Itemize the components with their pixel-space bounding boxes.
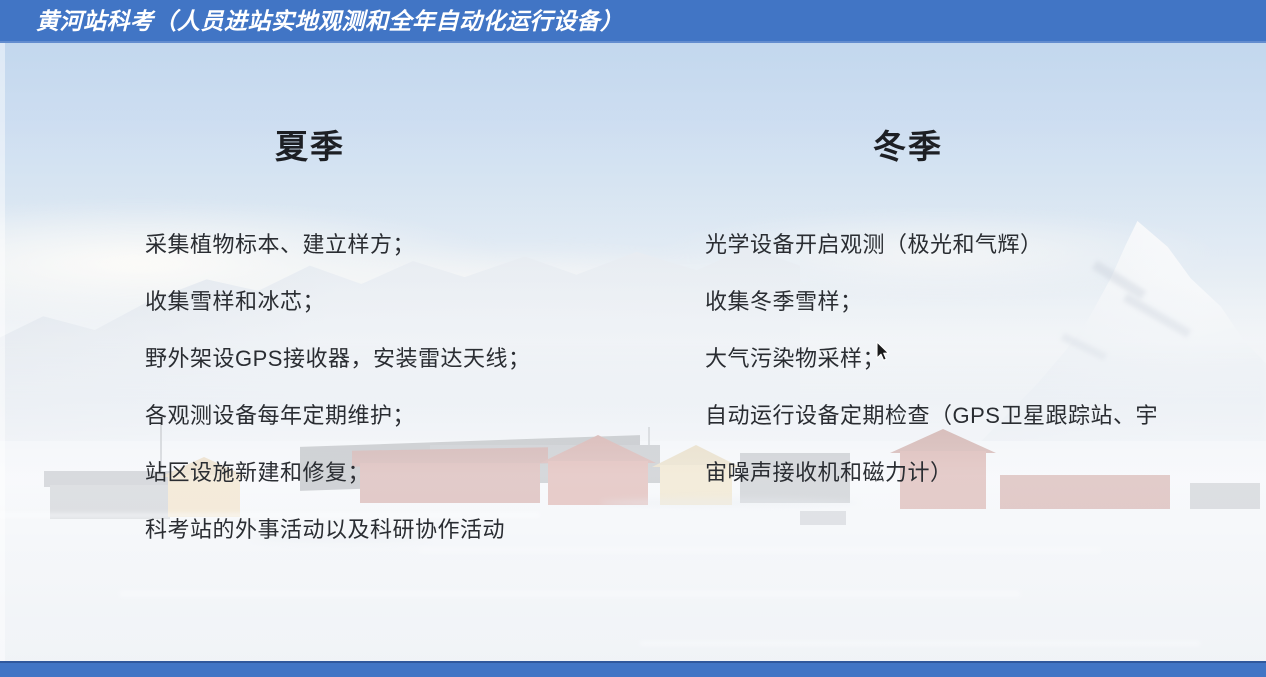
- slide-root: 黄河站科考（人员进站实地观测和全年自动化运行设备） 夏季 采集植物标本、建立样方…: [0, 0, 1266, 677]
- list-item: 站区设施新建和修复；: [145, 444, 665, 501]
- footer-bar: [0, 661, 1266, 677]
- list-item: 收集雪样和冰芯；: [145, 273, 665, 330]
- title-bar: 黄河站科考（人员进站实地观测和全年自动化运行设备）: [0, 0, 1266, 43]
- winter-column: 冬季 光学设备开启观测（极光和气辉） 收集冬季雪样； 大气污染物采样； 自动运行…: [705, 126, 1225, 501]
- summer-heading: 夏季: [145, 126, 475, 168]
- snow-streak: [120, 591, 1020, 597]
- summer-column: 夏季 采集植物标本、建立样方； 收集雪样和冰芯； 野外架设GPS接收器，安装雷达…: [145, 126, 665, 558]
- list-item: 各观测设备每年定期维护；: [145, 387, 665, 444]
- list-item: 光学设备开启观测（极光和气辉）: [705, 216, 1225, 273]
- list-item: 科考站的外事活动以及科研协作活动: [145, 501, 665, 558]
- list-item: 野外架设GPS接收器，安装雷达天线；: [145, 330, 665, 387]
- snow-streak: [640, 641, 1200, 646]
- list-item: 大气污染物采样；: [705, 330, 1225, 387]
- list-item: 自动运行设备定期检查（GPS卫星跟踪站、宇宙噪声接收机和磁力计）: [705, 387, 1175, 501]
- page-title: 黄河站科考（人员进站实地观测和全年自动化运行设备）: [36, 5, 624, 38]
- summer-list: 采集植物标本、建立样方； 收集雪样和冰芯； 野外架设GPS接收器，安装雷达天线；…: [145, 216, 665, 558]
- winter-list: 光学设备开启观测（极光和气辉） 收集冬季雪样； 大气污染物采样； 自动运行设备定…: [705, 216, 1225, 501]
- list-item: 收集冬季雪样；: [705, 273, 1225, 330]
- list-item: 采集植物标本、建立样方；: [145, 216, 665, 273]
- winter-heading: 冬季: [733, 126, 1083, 168]
- building-small: [800, 511, 846, 525]
